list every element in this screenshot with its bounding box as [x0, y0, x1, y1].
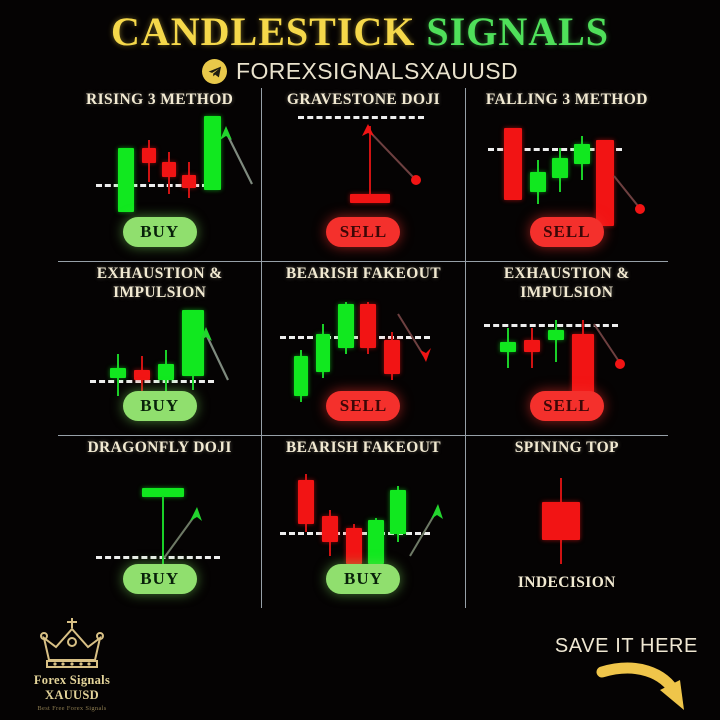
pattern-cell-falling-3-method[interactable]: FALLING 3 METHOD SELL: [465, 88, 668, 261]
brand-logo: Forex Signals XAUUSD Best Free Forex Sig…: [8, 614, 136, 712]
pattern-caption: EXHAUSTION & IMPULSION: [466, 264, 668, 302]
candle-bear: [524, 328, 540, 368]
candle-chart: [262, 110, 464, 232]
candle-bull: [530, 160, 546, 204]
trend-arrow-up-icon: [216, 122, 262, 188]
trend-arrow-up-icon: [196, 322, 242, 384]
candle-bull: [574, 136, 590, 180]
candle-bull: [552, 148, 568, 192]
pattern-cell-bearish-fakeout-sell[interactable]: BEARISH FAKEOUT SELL: [261, 261, 464, 434]
pattern-cell-gravestone-doji[interactable]: GRAVESTONE DOJI SELL: [261, 88, 464, 261]
pattern-cell-dragonfly-doji[interactable]: DRAGONFLY DOJI BUY: [58, 435, 261, 608]
signal-badge-sell[interactable]: SELL: [326, 217, 400, 247]
telegram-icon: [202, 59, 227, 84]
pattern-cell-spining-top[interactable]: SPINING TOP INDECISION: [465, 435, 668, 608]
candle-bull: [316, 324, 330, 378]
candle-bear: [346, 524, 362, 568]
trend-arrow-down-icon: [586, 320, 636, 380]
pattern-caption: EXHAUSTION & IMPULSION: [58, 264, 261, 302]
candle-chart: [58, 110, 261, 232]
candle-bear: [322, 510, 338, 556]
level-line: [298, 116, 424, 119]
candle-bull: [294, 350, 308, 402]
pattern-caption: SPINING TOP: [466, 438, 668, 457]
trend-arrow-down-icon: [608, 172, 654, 222]
signal-badge-sell[interactable]: SELL: [326, 391, 400, 421]
candle-bull: [500, 328, 516, 368]
save-it-here-label: SAVE IT HERE: [555, 635, 698, 658]
candle-chart: [58, 464, 261, 576]
candle-bull: [338, 302, 354, 354]
title-word-candlestick: CANDLESTICK: [111, 9, 415, 54]
pattern-caption: FALLING 3 METHOD: [466, 90, 668, 109]
signal-badge-buy[interactable]: BUY: [123, 217, 197, 247]
indecision-note: INDECISION: [518, 574, 616, 592]
pattern-cell-bearish-fakeout-buy[interactable]: BEARISH FAKEOUT BUY: [261, 435, 464, 608]
candle-bull: [158, 350, 174, 394]
candle-bear: [142, 140, 156, 182]
crown-icon: [35, 614, 109, 672]
pattern-cell-exhaustion-impulsion-bull[interactable]: EXHAUSTION & IMPULSION BUY: [58, 261, 261, 434]
logo-tagline: Best Free Forex Signals: [8, 705, 136, 712]
candle-bear: [360, 302, 376, 354]
pattern-caption: BEARISH FAKEOUT: [262, 438, 464, 457]
page-title: CANDLESTICK SIGNALS: [0, 8, 720, 55]
signal-badge-buy[interactable]: BUY: [123, 564, 197, 594]
brand-handle: FOREXSIGNALSXAUUSD: [0, 58, 720, 85]
candle-bear: [504, 128, 522, 200]
pattern-caption: BEARISH FAKEOUT: [262, 264, 464, 283]
pattern-caption: GRAVESTONE DOJI: [262, 90, 464, 109]
trend-arrow-down-icon: [390, 308, 442, 370]
title-word-signals: SIGNALS: [426, 9, 609, 54]
candle-chart: [466, 110, 668, 232]
candle-bull: [548, 320, 564, 362]
pattern-cell-exhaustion-impulsion-bear[interactable]: EXHAUSTION & IMPULSION SELL: [465, 261, 668, 434]
candle-spinning-top: [542, 478, 580, 564]
pattern-cell-rising-3-method[interactable]: RISING 3 METHOD BUY: [58, 88, 261, 261]
curved-arrow-down-right-icon: [596, 660, 700, 718]
signal-badge-sell[interactable]: SELL: [530, 391, 604, 421]
candle-chart: [466, 462, 668, 566]
candle-chart: [262, 458, 464, 580]
candle-bull: [368, 518, 384, 568]
pattern-grid: RISING 3 METHOD BUY: [58, 88, 668, 608]
candle-chart: [262, 284, 464, 406]
infographic-root: CANDLESTICK SIGNALS FOREXSIGNALSXAUUSD R…: [0, 0, 720, 720]
trend-arrow-up-icon: [402, 494, 454, 564]
signal-badge-sell[interactable]: SELL: [530, 217, 604, 247]
candle-bear: [162, 152, 176, 194]
candle-bear: [182, 162, 196, 198]
signal-badge-buy[interactable]: BUY: [326, 564, 400, 594]
logo-name: Forex Signals XAUUSD: [8, 673, 136, 703]
pattern-caption: DRAGONFLY DOJI: [58, 438, 261, 457]
candle-bull: [118, 148, 134, 212]
trend-arrow-up-icon: [154, 500, 216, 566]
handle-text: FOREXSIGNALSXAUUSD: [236, 58, 518, 85]
trend-arrow-down-icon: [358, 122, 430, 188]
candle-bull: [110, 354, 126, 396]
candle-bear: [298, 474, 314, 532]
pattern-caption: RISING 3 METHOD: [58, 90, 261, 109]
signal-badge-buy[interactable]: BUY: [123, 391, 197, 421]
